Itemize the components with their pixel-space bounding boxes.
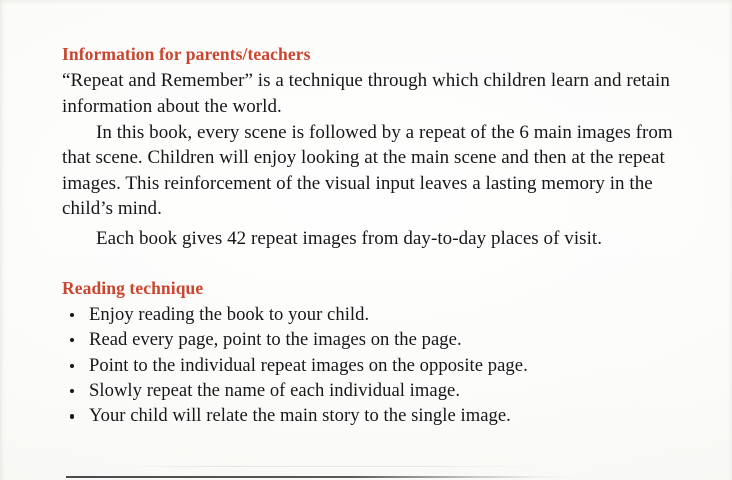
list-item: Point to the individual repeat images on… [62,353,684,378]
bullet-dot-icon [70,338,74,342]
list-item-label: Slowly repeat the name of each individua… [89,380,460,401]
list-item-label: Your child will relate the main story to… [89,405,511,426]
reading-technique-list: Enjoy reading the book to your child. Re… [62,302,684,429]
heading-information-for-parents-teachers: Information for parents/teachers [62,44,684,65]
page-content: Information for parents/teachers “Repeat… [62,44,684,429]
list-item: Read every page, point to the images on … [62,327,684,352]
heading-reading-technique: Reading technique [62,278,684,299]
bottom-rule [66,476,582,478]
scan-edge-top [0,0,732,5]
bullet-dot-icon [70,389,74,393]
list-item: Enjoy reading the book to your child. [62,302,684,327]
bottom-rule-soft [120,466,540,467]
bullet-dot-icon [70,313,74,317]
scan-edge-left [0,0,7,480]
list-item-label: Point to the individual repeat images on… [89,355,528,376]
list-item-label: Read every page, point to the images on … [89,329,462,350]
book-page: Information for parents/teachers “Repeat… [0,0,732,480]
list-item: Your child will relate the main story to… [62,403,684,428]
bullet-dot-icon [70,364,74,368]
bullet-dot-icon [70,414,74,418]
paragraph-repeat-and-remember: “Repeat and Remember” is a technique thr… [62,68,684,119]
paragraph-in-this-book: In this book, every scene is followed by… [62,120,684,222]
scan-edge-right [726,0,732,480]
paragraph-each-book-gives: Each book gives 42 repeat images from da… [62,226,684,252]
list-item: Slowly repeat the name of each individua… [62,378,684,403]
section-spacer [62,252,684,278]
list-item-label: Enjoy reading the book to your child. [89,304,369,325]
